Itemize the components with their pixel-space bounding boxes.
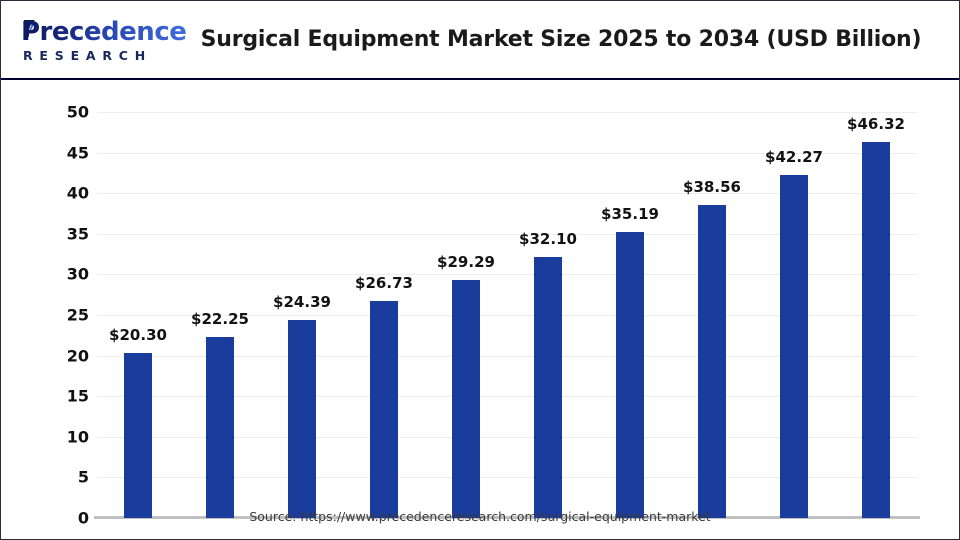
bar-group[interactable]: $35.192031 xyxy=(589,112,671,518)
bar[interactable] xyxy=(206,337,234,518)
bar-value-label: $38.56 xyxy=(683,178,741,196)
bar-value-label: $20.30 xyxy=(109,326,167,344)
y-axis-tick-label: 35 xyxy=(49,224,89,243)
page-title: Surgical Equipment Market Size 2025 to 2… xyxy=(191,27,931,52)
y-axis-tick-label: 15 xyxy=(49,387,89,406)
bar-value-label: $46.32 xyxy=(847,115,905,133)
bar-value-label: $29.29 xyxy=(437,253,495,271)
bar-value-label: $35.19 xyxy=(601,205,659,223)
y-axis-ticks: 50454035302520151050 xyxy=(41,112,89,518)
bar-group[interactable]: $29.292029 xyxy=(425,112,507,518)
bar-group[interactable]: $32.102030 xyxy=(507,112,589,518)
logo-subtitle: RESEARCH xyxy=(23,48,152,63)
bar[interactable] xyxy=(452,280,480,518)
bar-group[interactable]: $20.302025 xyxy=(97,112,179,518)
bar-group[interactable]: $38.562032 xyxy=(671,112,753,518)
y-axis-tick-label: 45 xyxy=(49,143,89,162)
bar-group[interactable]: $22.252026 xyxy=(179,112,261,518)
bar[interactable] xyxy=(698,205,726,518)
bar-value-label: $22.25 xyxy=(191,310,249,328)
y-axis-tick-label: 20 xyxy=(49,346,89,365)
chart-page: Precedence RESEARCH Surgical Equipment M… xyxy=(0,0,960,540)
bar[interactable] xyxy=(534,257,562,518)
precedence-research-logo: Precedence RESEARCH xyxy=(15,17,175,65)
bar[interactable] xyxy=(288,320,316,518)
bar-value-label: $24.39 xyxy=(273,293,331,311)
y-axis-tick-label: 5 xyxy=(49,468,89,487)
y-axis-tick-label: 25 xyxy=(49,306,89,325)
y-axis-tick-label: 40 xyxy=(49,184,89,203)
bars-container: $20.302025$22.252026$24.392027$26.732028… xyxy=(97,112,917,518)
bar[interactable] xyxy=(616,232,644,518)
y-axis-tick-label: 50 xyxy=(49,103,89,122)
bar-group[interactable]: $24.392027 xyxy=(261,112,343,518)
bar[interactable] xyxy=(124,353,152,518)
bar-value-label: $32.10 xyxy=(519,230,577,248)
bar-group[interactable]: $26.732028 xyxy=(343,112,425,518)
source-note: Source: https://www.precedenceresearch.c… xyxy=(1,509,959,524)
bar-value-label: $26.73 xyxy=(355,274,413,292)
bar[interactable] xyxy=(780,175,808,518)
y-axis-tick-label: 10 xyxy=(49,427,89,446)
bar-group[interactable]: $46.322034 xyxy=(835,112,917,518)
bar-value-label: $42.27 xyxy=(765,148,823,166)
y-axis-tick-label: 30 xyxy=(49,265,89,284)
header-bar: Precedence RESEARCH Surgical Equipment M… xyxy=(1,1,959,78)
chart-plot-area: 50454035302520151050 $20.302025$22.25202… xyxy=(1,80,959,539)
bar[interactable] xyxy=(862,142,890,518)
bar-group[interactable]: $42.272033 xyxy=(753,112,835,518)
logo-wordmark: Precedence xyxy=(21,17,186,47)
bar[interactable] xyxy=(370,301,398,518)
